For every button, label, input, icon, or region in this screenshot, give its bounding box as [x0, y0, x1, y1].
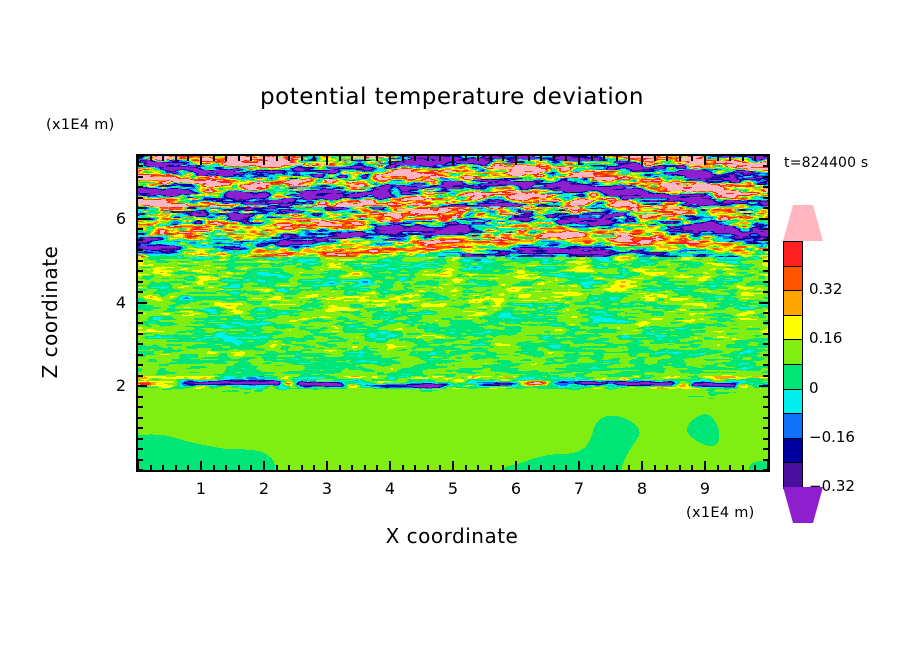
- x-tick-top: [326, 156, 328, 165]
- y-tick-left: [138, 448, 143, 450]
- y-tick-left: [138, 249, 143, 251]
- timestamp-label: t=824400 s: [784, 155, 868, 171]
- x-tick-top: [414, 156, 416, 161]
- y-tick-left: [138, 438, 143, 440]
- x-tick-bottom: [238, 465, 240, 470]
- y-tick-left: [138, 312, 143, 314]
- colorbar-segment: [783, 413, 803, 439]
- x-tick-top: [528, 156, 530, 161]
- y-tick-right: [763, 281, 768, 283]
- y-tick-left: [138, 197, 143, 199]
- y-tick-label: 6: [96, 209, 126, 228]
- colorbar-tick-label: −0.16: [809, 428, 855, 446]
- x-tick-bottom: [339, 465, 341, 470]
- x-tick-top: [187, 156, 189, 161]
- x-tick-top: [364, 156, 366, 161]
- x-tick-label: 2: [244, 479, 284, 498]
- y-tick-right: [759, 385, 768, 387]
- x-tick-top: [553, 156, 555, 161]
- x-tick-bottom: [691, 465, 693, 470]
- x-tick-top: [150, 156, 152, 161]
- y-tick-label: 2: [96, 376, 126, 395]
- y-tick-left: [138, 417, 143, 419]
- x-tick-top: [427, 156, 429, 161]
- x-tick-top: [704, 156, 706, 165]
- x-tick-top: [654, 156, 656, 161]
- x-tick-top: [439, 156, 441, 161]
- colorbar-tick-label: 0: [809, 379, 819, 397]
- y-tick-right: [763, 343, 768, 345]
- y-tick-left: [138, 155, 143, 157]
- y-tick-left: [138, 406, 143, 408]
- y-tick-right: [763, 312, 768, 314]
- y-tick-right: [763, 438, 768, 440]
- y-tick-left: [138, 270, 143, 272]
- y-tick-left: [138, 302, 147, 304]
- colorbar-tick-label: −0.32: [809, 477, 855, 495]
- x-tick-top: [628, 156, 630, 161]
- y-tick-left: [138, 186, 143, 188]
- x-tick-bottom: [679, 465, 681, 470]
- y-tick-right: [763, 333, 768, 335]
- y-tick-left: [138, 375, 143, 377]
- x-tick-top: [402, 156, 404, 161]
- x-tick-label: 9: [685, 479, 725, 498]
- x-tick-bottom: [578, 461, 580, 470]
- y-tick-right: [763, 459, 768, 461]
- x-tick-label: 3: [307, 479, 347, 498]
- x-tick-top: [213, 156, 215, 161]
- y-tick-right: [763, 270, 768, 272]
- x-tick-bottom: [591, 465, 593, 470]
- x-tick-top: [540, 156, 542, 161]
- x-tick-bottom: [742, 465, 744, 470]
- x-tick-top: [729, 156, 731, 161]
- x-tick-top: [767, 156, 769, 165]
- x-tick-top: [263, 156, 265, 165]
- y-tick-right: [759, 302, 768, 304]
- x-tick-bottom: [654, 465, 656, 470]
- x-tick-top: [137, 156, 139, 165]
- y-tick-right: [763, 186, 768, 188]
- y-tick-right: [763, 417, 768, 419]
- x-tick-bottom: [175, 465, 177, 470]
- y-tick-right: [763, 249, 768, 251]
- colorbar-tick-label: 0.32: [809, 280, 842, 298]
- y-tick-left: [138, 354, 143, 356]
- y-tick-right: [763, 354, 768, 356]
- y-tick-left: [138, 165, 143, 167]
- x-tick-bottom: [502, 465, 504, 470]
- y-tick-left: [138, 218, 147, 220]
- x-tick-top: [250, 156, 252, 161]
- x-tick-top: [313, 156, 315, 161]
- x-tick-bottom: [729, 465, 731, 470]
- x-tick-bottom: [162, 465, 164, 470]
- x-tick-bottom: [187, 465, 189, 470]
- y-tick-right: [763, 155, 768, 157]
- colorbar-segment: [783, 389, 803, 415]
- y-tick-right: [763, 406, 768, 408]
- y-tick-left: [138, 260, 143, 262]
- y-tick-label: 4: [96, 293, 126, 312]
- y-tick-left: [138, 459, 143, 461]
- y-axis-title: Z coordinate: [38, 202, 62, 422]
- y-tick-right: [763, 448, 768, 450]
- x-tick-bottom: [553, 465, 555, 470]
- x-tick-bottom: [528, 465, 530, 470]
- x-axis-title: X coordinate: [0, 524, 904, 548]
- x-tick-bottom: [641, 461, 643, 470]
- colorbar-tick-label: 0.16: [809, 329, 842, 347]
- y-tick-right: [763, 197, 768, 199]
- x-tick-top: [452, 156, 454, 165]
- x-tick-bottom: [704, 461, 706, 470]
- y-tick-right: [763, 322, 768, 324]
- x-tick-top: [565, 156, 567, 161]
- x-tick-bottom: [313, 465, 315, 470]
- y-tick-left: [138, 176, 143, 178]
- x-tick-top: [717, 156, 719, 161]
- y-tick-right: [763, 228, 768, 230]
- x-tick-top: [389, 156, 391, 165]
- x-tick-top: [679, 156, 681, 161]
- colorbar-segment: [783, 241, 803, 267]
- x-tick-bottom: [263, 461, 265, 470]
- x-tick-top: [591, 156, 593, 161]
- x-tick-bottom: [717, 465, 719, 470]
- x-tick-bottom: [490, 465, 492, 470]
- colorbar: 0.320.160−0.16−0.32: [783, 205, 803, 523]
- x-tick-top: [200, 156, 202, 165]
- y-tick-left: [138, 281, 143, 283]
- y-tick-left: [138, 364, 143, 366]
- x-tick-label: 1: [181, 479, 221, 498]
- y-axis-unit-label: (x1E4 m): [46, 117, 115, 133]
- x-tick-bottom: [276, 465, 278, 470]
- x-tick-top: [578, 156, 580, 165]
- contour-plot-area: [136, 154, 770, 472]
- x-tick-top: [339, 156, 341, 161]
- x-tick-top: [465, 156, 467, 161]
- x-tick-bottom: [414, 465, 416, 470]
- x-tick-bottom: [452, 461, 454, 470]
- x-tick-bottom: [200, 461, 202, 470]
- x-tick-bottom: [351, 465, 353, 470]
- y-tick-right: [763, 207, 768, 209]
- y-tick-left: [138, 322, 143, 324]
- y-tick-left: [138, 291, 143, 293]
- x-tick-bottom: [540, 465, 542, 470]
- y-tick-left: [138, 207, 143, 209]
- x-tick-top: [603, 156, 605, 161]
- x-tick-top: [490, 156, 492, 161]
- y-tick-right: [759, 218, 768, 220]
- x-tick-top: [666, 156, 668, 161]
- y-tick-right: [763, 260, 768, 262]
- x-tick-top: [502, 156, 504, 161]
- y-tick-left: [138, 396, 143, 398]
- y-tick-right: [763, 469, 768, 471]
- colorbar-segment: [783, 315, 803, 341]
- x-tick-top: [351, 156, 353, 161]
- x-tick-bottom: [628, 465, 630, 470]
- y-tick-right: [763, 165, 768, 167]
- x-tick-bottom: [427, 465, 429, 470]
- colorbar-segment: [783, 290, 803, 316]
- colorbar-segment: [783, 339, 803, 365]
- x-tick-label: 7: [559, 479, 599, 498]
- x-tick-bottom: [389, 461, 391, 470]
- colorbar-segment: [783, 266, 803, 292]
- y-tick-right: [763, 396, 768, 398]
- x-tick-top: [691, 156, 693, 161]
- y-tick-right: [763, 427, 768, 429]
- x-tick-bottom: [603, 465, 605, 470]
- x-tick-top: [616, 156, 618, 161]
- x-tick-bottom: [515, 461, 517, 470]
- y-tick-left: [138, 469, 143, 471]
- x-tick-bottom: [616, 465, 618, 470]
- y-tick-left: [138, 228, 143, 230]
- y-tick-left: [138, 333, 143, 335]
- colorbar-segment: [783, 438, 803, 464]
- x-tick-top: [225, 156, 227, 161]
- colorbar-segment: [783, 364, 803, 390]
- y-tick-left: [138, 343, 143, 345]
- x-tick-top: [288, 156, 290, 161]
- x-tick-top: [477, 156, 479, 161]
- x-tick-bottom: [402, 465, 404, 470]
- y-tick-right: [763, 176, 768, 178]
- y-tick-left: [138, 385, 147, 387]
- y-tick-left: [138, 239, 143, 241]
- colorbar-segment: [783, 462, 803, 488]
- x-tick-top: [162, 156, 164, 161]
- page-title: potential temperature deviation: [0, 84, 904, 110]
- x-tick-top: [301, 156, 303, 161]
- x-tick-top: [376, 156, 378, 161]
- x-tick-top: [175, 156, 177, 161]
- y-tick-right: [763, 291, 768, 293]
- x-tick-top: [515, 156, 517, 165]
- x-axis-unit-label: (x1E4 m): [686, 505, 755, 521]
- x-tick-bottom: [288, 465, 290, 470]
- x-tick-top: [641, 156, 643, 165]
- x-tick-bottom: [150, 465, 152, 470]
- x-tick-bottom: [439, 465, 441, 470]
- x-tick-bottom: [250, 465, 252, 470]
- x-tick-top: [754, 156, 756, 161]
- x-tick-bottom: [376, 465, 378, 470]
- x-tick-bottom: [213, 465, 215, 470]
- x-tick-bottom: [754, 465, 756, 470]
- contour-field-canvas: [138, 156, 768, 470]
- x-tick-label: 8: [622, 479, 662, 498]
- x-tick-top: [238, 156, 240, 161]
- x-tick-bottom: [565, 465, 567, 470]
- x-tick-label: 5: [433, 479, 473, 498]
- x-tick-label: 6: [496, 479, 536, 498]
- y-tick-right: [763, 239, 768, 241]
- y-tick-right: [763, 375, 768, 377]
- x-tick-label: 4: [370, 479, 410, 498]
- x-tick-top: [742, 156, 744, 161]
- x-tick-bottom: [301, 465, 303, 470]
- x-tick-bottom: [477, 465, 479, 470]
- y-tick-right: [763, 364, 768, 366]
- x-tick-bottom: [666, 465, 668, 470]
- colorbar-over-arrow: [783, 205, 823, 241]
- x-tick-bottom: [225, 465, 227, 470]
- y-tick-left: [138, 427, 143, 429]
- x-tick-bottom: [465, 465, 467, 470]
- x-tick-bottom: [364, 465, 366, 470]
- x-tick-bottom: [326, 461, 328, 470]
- x-tick-top: [276, 156, 278, 161]
